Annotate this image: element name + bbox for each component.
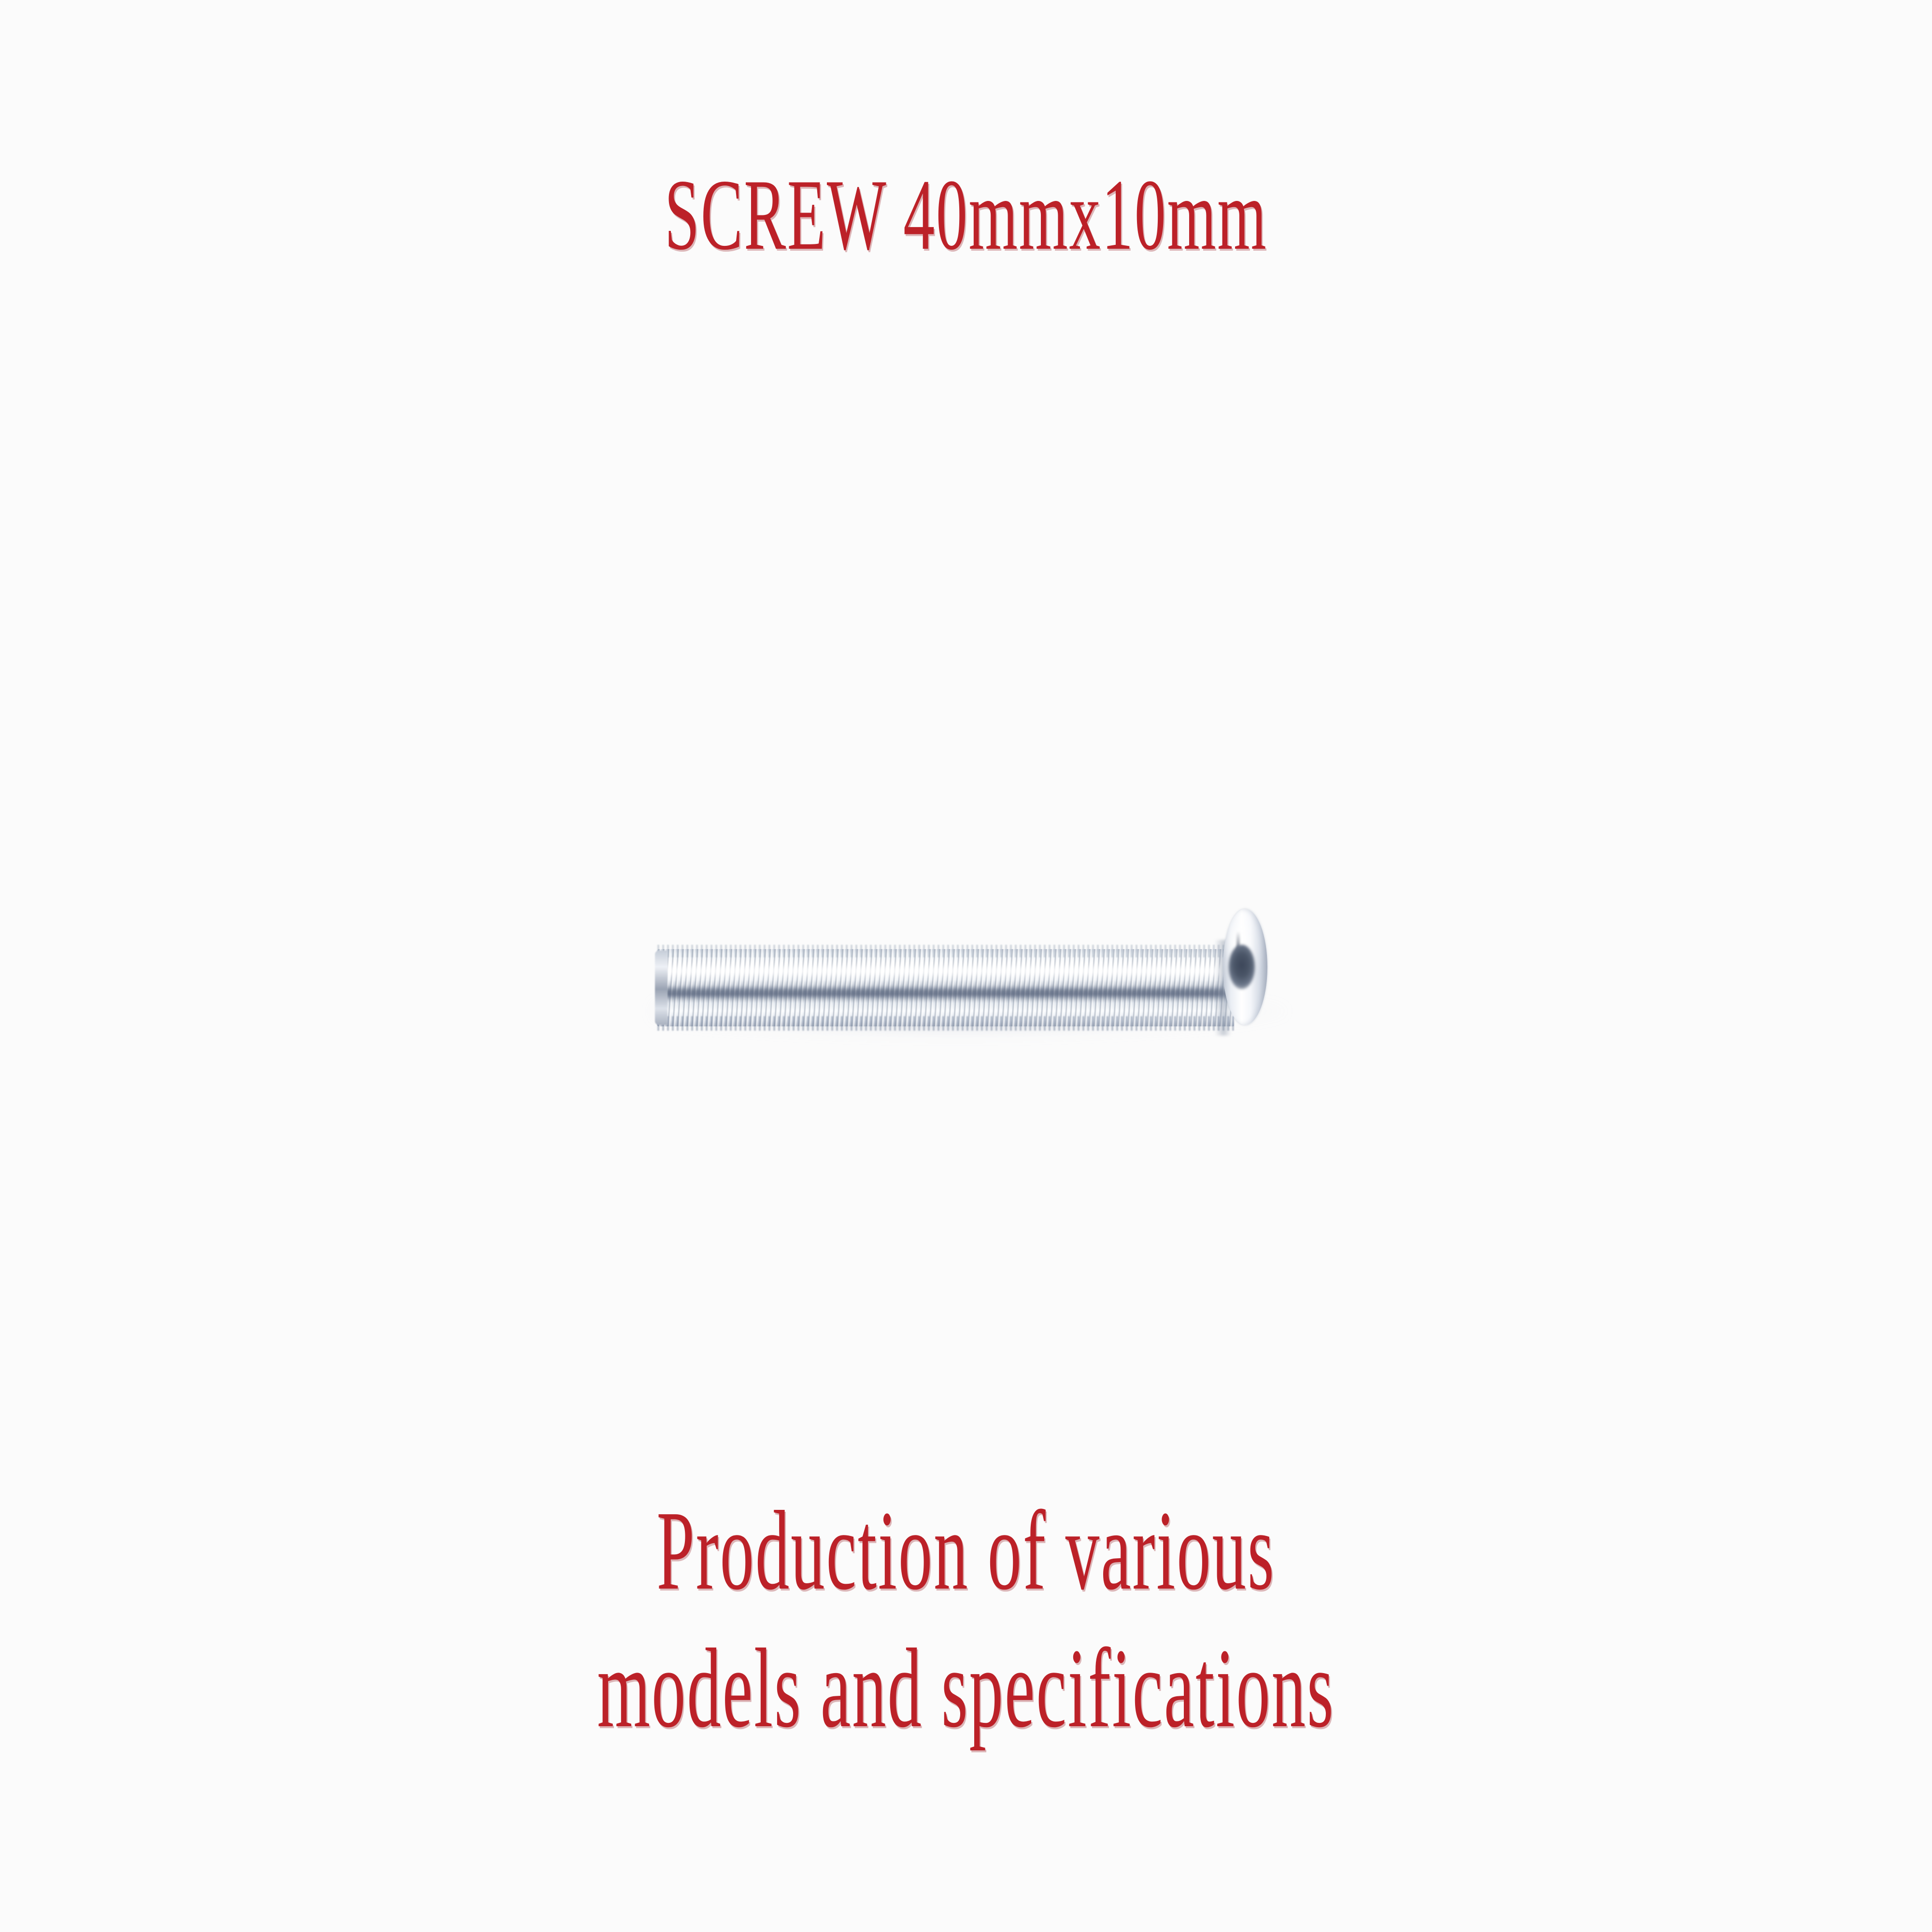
screw-tip-end	[655, 951, 668, 1025]
screw-thread-crest-bottom	[657, 1016, 1234, 1031]
product-listing-canvas: SCREW 40mmx10mm Production of various mo…	[0, 0, 1932, 1932]
screw-thread-root-band	[657, 985, 1236, 1002]
screw-photo	[609, 850, 1333, 1092]
tagline-line-2: models and specifications	[386, 1628, 1546, 1748]
screw-hex-socket-recess	[1229, 945, 1255, 989]
screw-specular-highlight	[662, 963, 1232, 980]
screw-thread-crest-top	[657, 945, 1234, 957]
tagline-line-1: Production of various	[386, 1490, 1546, 1611]
page-title: SCREW 40mmx10mm	[367, 159, 1565, 270]
